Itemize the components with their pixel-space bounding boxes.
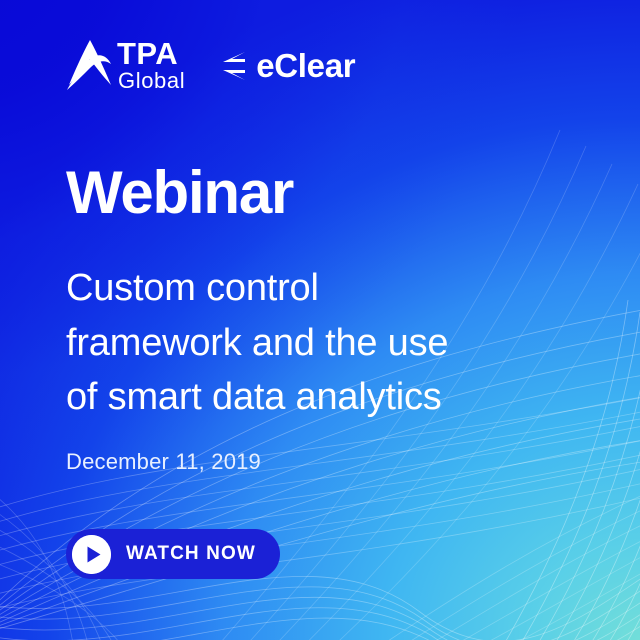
tpa-wordmark: TPA Global (117, 36, 185, 92)
mountain-peak-icon (66, 38, 112, 92)
page-title: Webinar (66, 163, 293, 223)
watch-now-button[interactable]: WATCH NOW (66, 529, 280, 579)
play-icon (72, 535, 111, 574)
tpa-logo-line1: TPA (117, 38, 185, 69)
logo-row: TPA Global eClear (66, 36, 355, 92)
eclear-logo: eClear (221, 47, 355, 85)
eclear-wordmark: eClear (256, 47, 355, 85)
double-chevron-left-icon (221, 51, 247, 81)
subtitle: Custom control framework and the use of … (66, 261, 448, 425)
watch-now-label: WATCH NOW (126, 543, 256, 565)
tpa-global-logo: TPA Global (66, 36, 185, 92)
event-date: December 11, 2019 (66, 449, 261, 475)
tpa-logo-line2: Global (118, 70, 185, 92)
webinar-promo-card: TPA Global eClear Webinar Custom control… (0, 0, 640, 640)
